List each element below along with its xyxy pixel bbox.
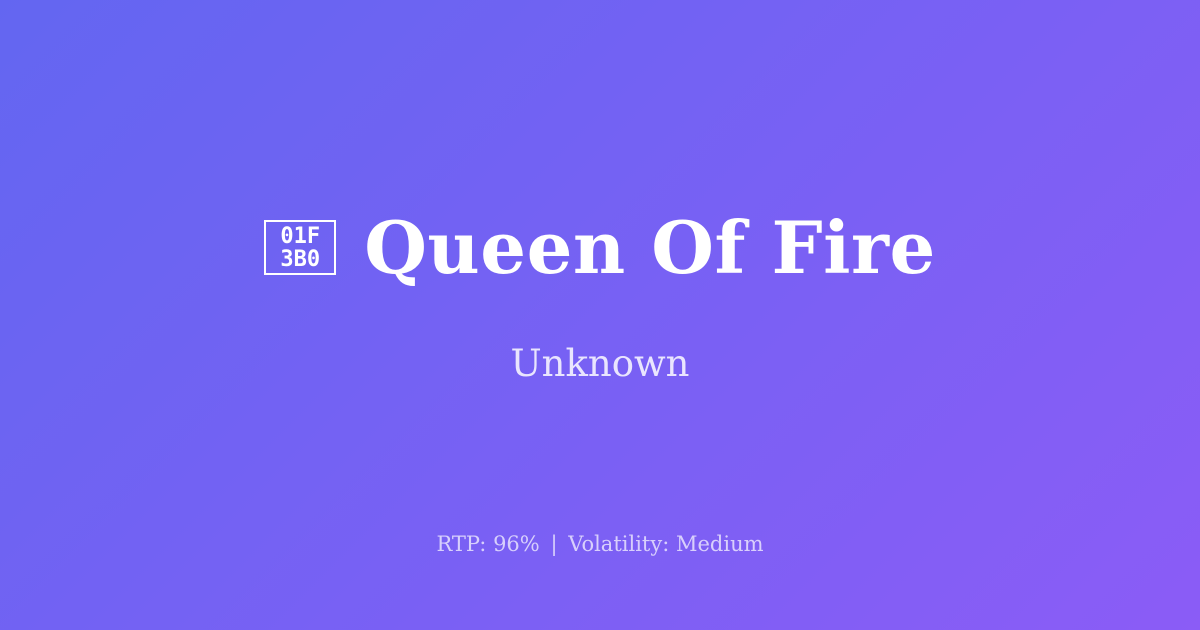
volatility-label: Volatility:	[568, 532, 669, 556]
meta-separator: |	[546, 532, 561, 556]
slot-machine-icon-codepoint-low: 3B0	[280, 248, 320, 271]
game-meta: RTP: 96% | Volatility: Medium	[0, 531, 1200, 558]
volatility-value: Medium	[676, 532, 764, 556]
title-row: 01F 3B0 Queen Of Fire	[0, 210, 1200, 286]
slot-machine-icon: 01F 3B0	[264, 220, 336, 275]
rtp-value: 96%	[493, 532, 540, 556]
game-provider: Unknown	[510, 342, 689, 386]
game-preview-card: 01F 3B0 Queen Of Fire Unknown RTP: 96% |…	[0, 0, 1200, 630]
rtp-label: RTP:	[436, 532, 486, 556]
hero-block: 01F 3B0 Queen Of Fire Unknown	[0, 210, 1200, 387]
slot-machine-icon-codepoint-high: 01F	[280, 225, 320, 248]
game-title: Queen Of Fire	[364, 210, 936, 286]
